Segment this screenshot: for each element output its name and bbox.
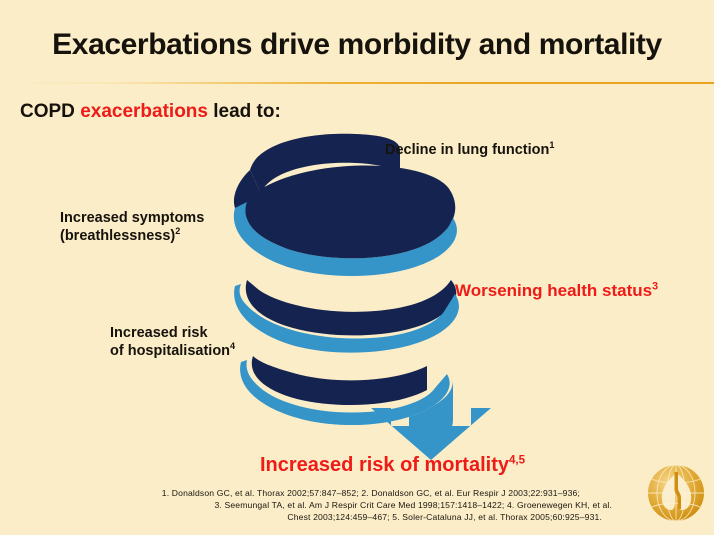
label-decline-lung-function: Decline in lung function1 xyxy=(385,142,554,160)
label-symptoms-line2-wrap: (breathlessness)2 xyxy=(60,228,204,246)
label-hosp-line2: of hospitalisation xyxy=(110,343,230,359)
downward-spiral-diagram xyxy=(195,130,495,460)
label-worsening-text: Worsening health status xyxy=(455,281,652,300)
subtitle: COPD exacerbations lead to: xyxy=(20,101,281,123)
page-title: Exacerbations drive morbidity and mortal… xyxy=(0,28,714,62)
label-symptoms-superscript: 2 xyxy=(175,226,180,236)
label-symptoms-line1: Increased symptoms xyxy=(60,210,204,228)
label-hosp-line1: Increased risk xyxy=(110,325,235,343)
label-symptoms-line2: (breathlessness) xyxy=(60,228,175,244)
label-increased-risk-hospitalisation: Increased risk of hospitalisation4 xyxy=(110,325,235,360)
reference-line-3: Chest 2003;124:459–467; 5. Soler-Catalun… xyxy=(60,512,620,524)
reference-line-2: 3. Seemungal TA, et al. Am J Respir Crit… xyxy=(60,500,620,512)
references-block: 1. Donaldson GC, et al. Thorax 2002;57:8… xyxy=(60,488,620,524)
globe-lungs-logo xyxy=(645,462,707,524)
label-increased-symptoms: Increased symptoms (breathlessness)2 xyxy=(60,210,204,245)
label-mortality-text: Increased risk of mortality xyxy=(260,454,509,476)
label-mortality-superscript: 4,5 xyxy=(509,453,525,466)
label-worsening-superscript: 3 xyxy=(652,280,658,292)
label-increased-risk-mortality: Increased risk of mortality4,5 xyxy=(260,453,525,477)
spiral-turn2-back xyxy=(246,166,456,259)
title-divider xyxy=(0,82,714,84)
label-decline-text: Decline in lung function xyxy=(385,142,549,158)
label-worsening-health-status: Worsening health status3 xyxy=(455,281,658,302)
subtitle-highlight: exacerbations xyxy=(80,101,208,122)
reference-line-1: 1. Donaldson GC, et al. Thorax 2002;57:8… xyxy=(60,488,620,500)
slide-canvas: Exacerbations drive morbidity and mortal… xyxy=(0,0,714,535)
label-decline-superscript: 1 xyxy=(549,140,554,150)
subtitle-suffix: lead to: xyxy=(208,101,281,122)
label-hosp-superscript: 4 xyxy=(230,341,235,351)
subtitle-prefix: COPD xyxy=(20,101,80,122)
label-hosp-line2-wrap: of hospitalisation4 xyxy=(110,343,235,361)
spiral-turn4-back xyxy=(252,356,427,405)
